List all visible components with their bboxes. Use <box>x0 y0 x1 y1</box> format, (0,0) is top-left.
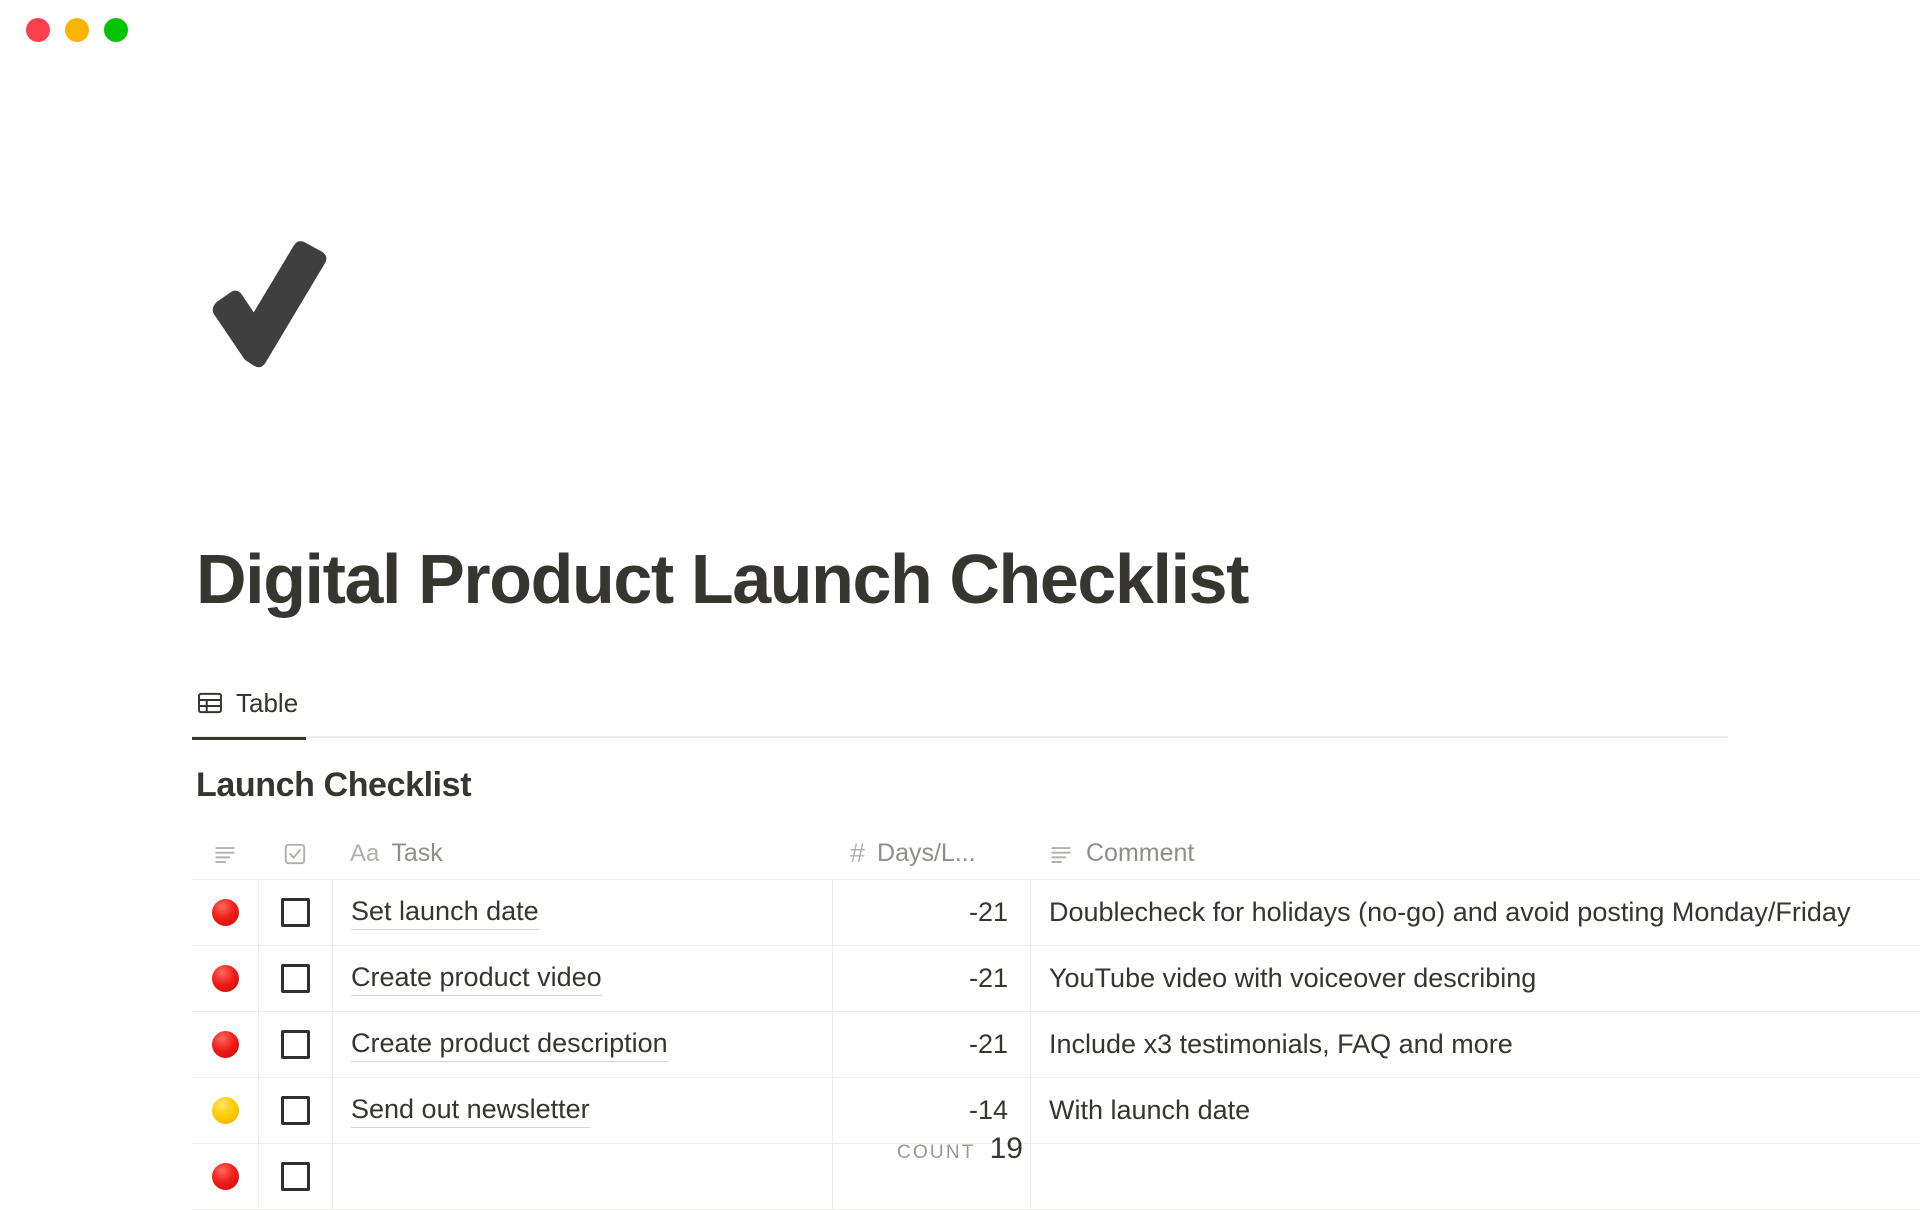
column-header-days[interactable]: # Days/L... <box>832 828 1030 879</box>
count-value: 19 <box>990 1132 1023 1166</box>
days-value: -21 <box>969 1029 1008 1060</box>
table-header-row: Aa Task # Days/L... Comment <box>192 828 1920 880</box>
check-mark-icon[interactable] <box>196 228 344 376</box>
page-content: Digital Product Launch Checklist Table L… <box>0 60 1920 1200</box>
view-tab-bar: Table <box>192 668 1728 738</box>
count-label: Count <box>897 1142 976 1164</box>
days-value: -21 <box>969 897 1008 928</box>
cell-status[interactable] <box>192 880 258 945</box>
table-row[interactable]: Create product description -21 Include x… <box>192 1012 1920 1078</box>
task-title-link[interactable]: Set launch date <box>351 896 539 930</box>
column-header-task-label: Task <box>391 839 442 868</box>
cell-comment[interactable]: YouTube video with voiceover describing <box>1030 946 1920 1011</box>
status-dot-red <box>212 899 239 926</box>
task-checkbox[interactable] <box>281 964 310 993</box>
task-checkbox[interactable] <box>281 1030 310 1059</box>
column-header-days-label: Days/L... <box>877 839 976 868</box>
database-footer: Count 19 <box>0 1132 1920 1166</box>
cell-status[interactable] <box>192 946 258 1011</box>
cell-done[interactable] <box>258 1012 332 1077</box>
comment-value: Include x3 testimonials, FAQ and more <box>1049 1029 1513 1060</box>
status-dot-yellow <box>212 1097 239 1124</box>
checkbox-icon <box>282 841 308 867</box>
days-value: -21 <box>969 963 1008 994</box>
task-title-link[interactable]: Create product video <box>351 962 602 996</box>
comment-value: With launch date <box>1049 1095 1250 1126</box>
cell-task[interactable]: Set launch date <box>332 880 832 945</box>
table-row[interactable]: Create product video -21 YouTube video w… <box>192 946 1920 1012</box>
table-icon <box>196 689 224 717</box>
task-title-link[interactable]: Create product description <box>351 1028 668 1062</box>
cell-days[interactable]: -21 <box>832 1012 1030 1077</box>
page-title: Digital Product Launch Checklist <box>196 544 1248 614</box>
cell-done[interactable] <box>258 946 332 1011</box>
task-checkbox[interactable] <box>281 1162 310 1191</box>
cell-status[interactable] <box>192 1012 258 1077</box>
cell-comment[interactable]: Include x3 testimonials, FAQ and more <box>1030 1012 1920 1077</box>
task-checkbox[interactable] <box>281 1096 310 1125</box>
status-dot-red <box>212 1163 239 1190</box>
days-value: -14 <box>969 1095 1008 1126</box>
text-lines-icon <box>212 841 238 867</box>
cell-days[interactable]: -21 <box>832 946 1030 1011</box>
database-title: Launch Checklist <box>196 766 471 805</box>
tab-table[interactable]: Table <box>192 668 306 738</box>
comment-value: Doublecheck for holidays (no-go) and avo… <box>1049 897 1850 928</box>
cell-days[interactable]: -21 <box>832 880 1030 945</box>
cell-task[interactable]: Create product video <box>332 946 832 1011</box>
tab-table-label: Table <box>236 688 298 719</box>
task-title-link[interactable]: Send out newsletter <box>351 1094 590 1128</box>
column-header-task[interactable]: Aa Task <box>332 828 832 879</box>
column-header-status[interactable] <box>192 828 258 879</box>
status-dot-red <box>212 965 239 992</box>
window-minimize-button[interactable] <box>65 18 89 42</box>
cell-comment[interactable]: Doublecheck for holidays (no-go) and avo… <box>1030 880 1920 945</box>
table-row[interactable]: Set launch date -21 Doublecheck for holi… <box>192 880 1920 946</box>
status-dot-red <box>212 1031 239 1058</box>
task-checkbox[interactable] <box>281 898 310 927</box>
aa-icon: Aa <box>350 840 379 868</box>
text-lines-icon <box>1048 841 1074 867</box>
window-titlebar <box>0 0 1920 60</box>
column-header-comment[interactable]: Comment <box>1030 828 1920 879</box>
hash-icon: # <box>850 838 865 869</box>
window-maximize-button[interactable] <box>104 18 128 42</box>
column-header-comment-label: Comment <box>1086 839 1194 868</box>
cell-done[interactable] <box>258 880 332 945</box>
comment-value: YouTube video with voiceover describing <box>1049 963 1536 994</box>
window-close-button[interactable] <box>26 18 50 42</box>
cell-task[interactable]: Create product description <box>332 1012 832 1077</box>
column-header-done[interactable] <box>258 828 332 879</box>
